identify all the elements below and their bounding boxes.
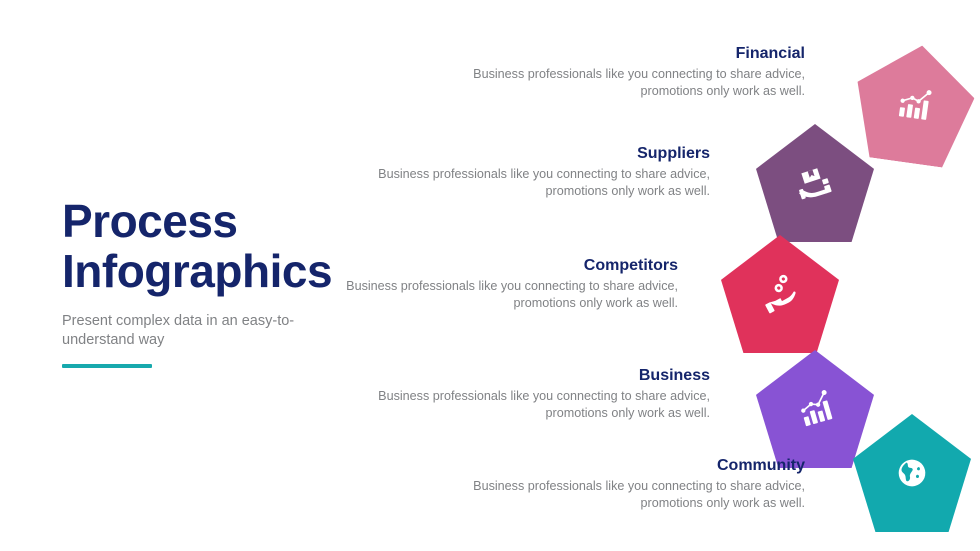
- step-description: Business professionals like you connecti…: [320, 388, 710, 421]
- bar-chart-trend-icon: [790, 384, 839, 433]
- step-description: Business professionals like you connecti…: [320, 166, 710, 199]
- step-title: Suppliers: [320, 144, 710, 163]
- accent-rule-divider: [62, 364, 152, 368]
- step-text-competitors: Competitors Business professionals like …: [290, 256, 678, 311]
- step-description: Business professionals like you connecti…: [290, 278, 678, 311]
- step-text-community: Community Business professionals like yo…: [420, 456, 805, 511]
- pentagon-community[interactable]: [844, 405, 980, 542]
- pentagon-shape: [721, 235, 839, 353]
- globe-icon: [889, 450, 935, 496]
- step-text-business: Business Business professionals like you…: [320, 366, 710, 421]
- page-subtitle: Present complex data in an easy-to-under…: [62, 312, 297, 350]
- step-title: Financial: [420, 44, 805, 63]
- pentagon-shape: [847, 37, 980, 170]
- step-title: Business: [320, 366, 710, 385]
- step-description: Business professionals like you connecti…: [420, 66, 805, 99]
- step-text-financial: Financial Business professionals like yo…: [420, 44, 805, 99]
- infographic-slide: Process Infographics Present complex dat…: [0, 0, 980, 551]
- bar-chart-trend-icon: [891, 81, 936, 126]
- step-title: Competitors: [290, 256, 678, 275]
- step-title: Community: [420, 456, 805, 475]
- pentagon-shape: [756, 124, 874, 242]
- hand-coins-icon: [753, 267, 807, 321]
- hand-package-icon: [790, 158, 840, 208]
- pentagon-financial[interactable]: [847, 37, 980, 170]
- pentagon-shape: [853, 414, 971, 532]
- step-description: Business professionals like you connecti…: [420, 478, 805, 511]
- step-text-suppliers: Suppliers Business professionals like yo…: [320, 144, 710, 199]
